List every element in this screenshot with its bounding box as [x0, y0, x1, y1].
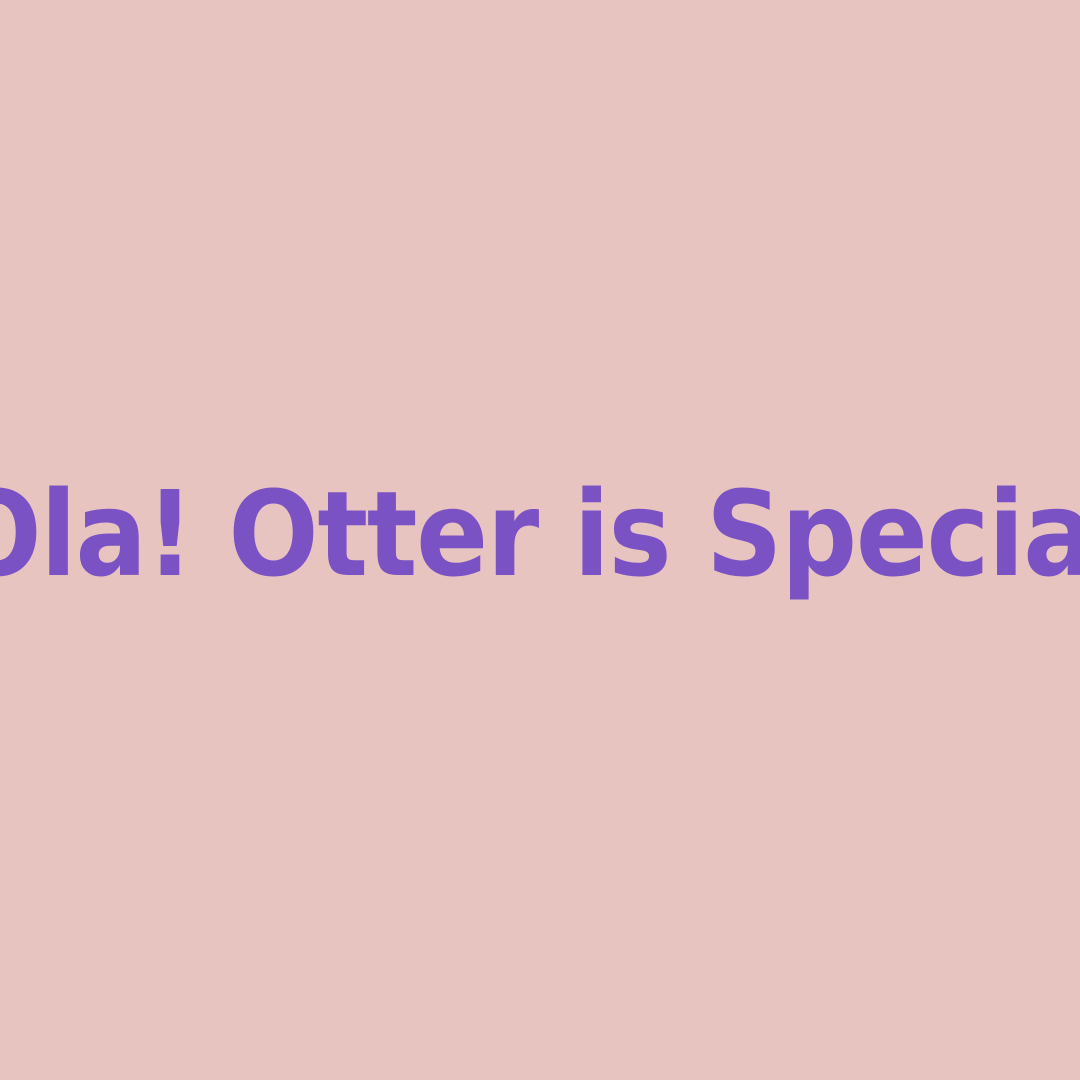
poster-canvas: Ola! Otter is Special: [0, 0, 1080, 1080]
headline-text: Ola! Otter is Special: [0, 475, 1080, 593]
headline-container: Ola! Otter is Special: [0, 451, 1080, 617]
